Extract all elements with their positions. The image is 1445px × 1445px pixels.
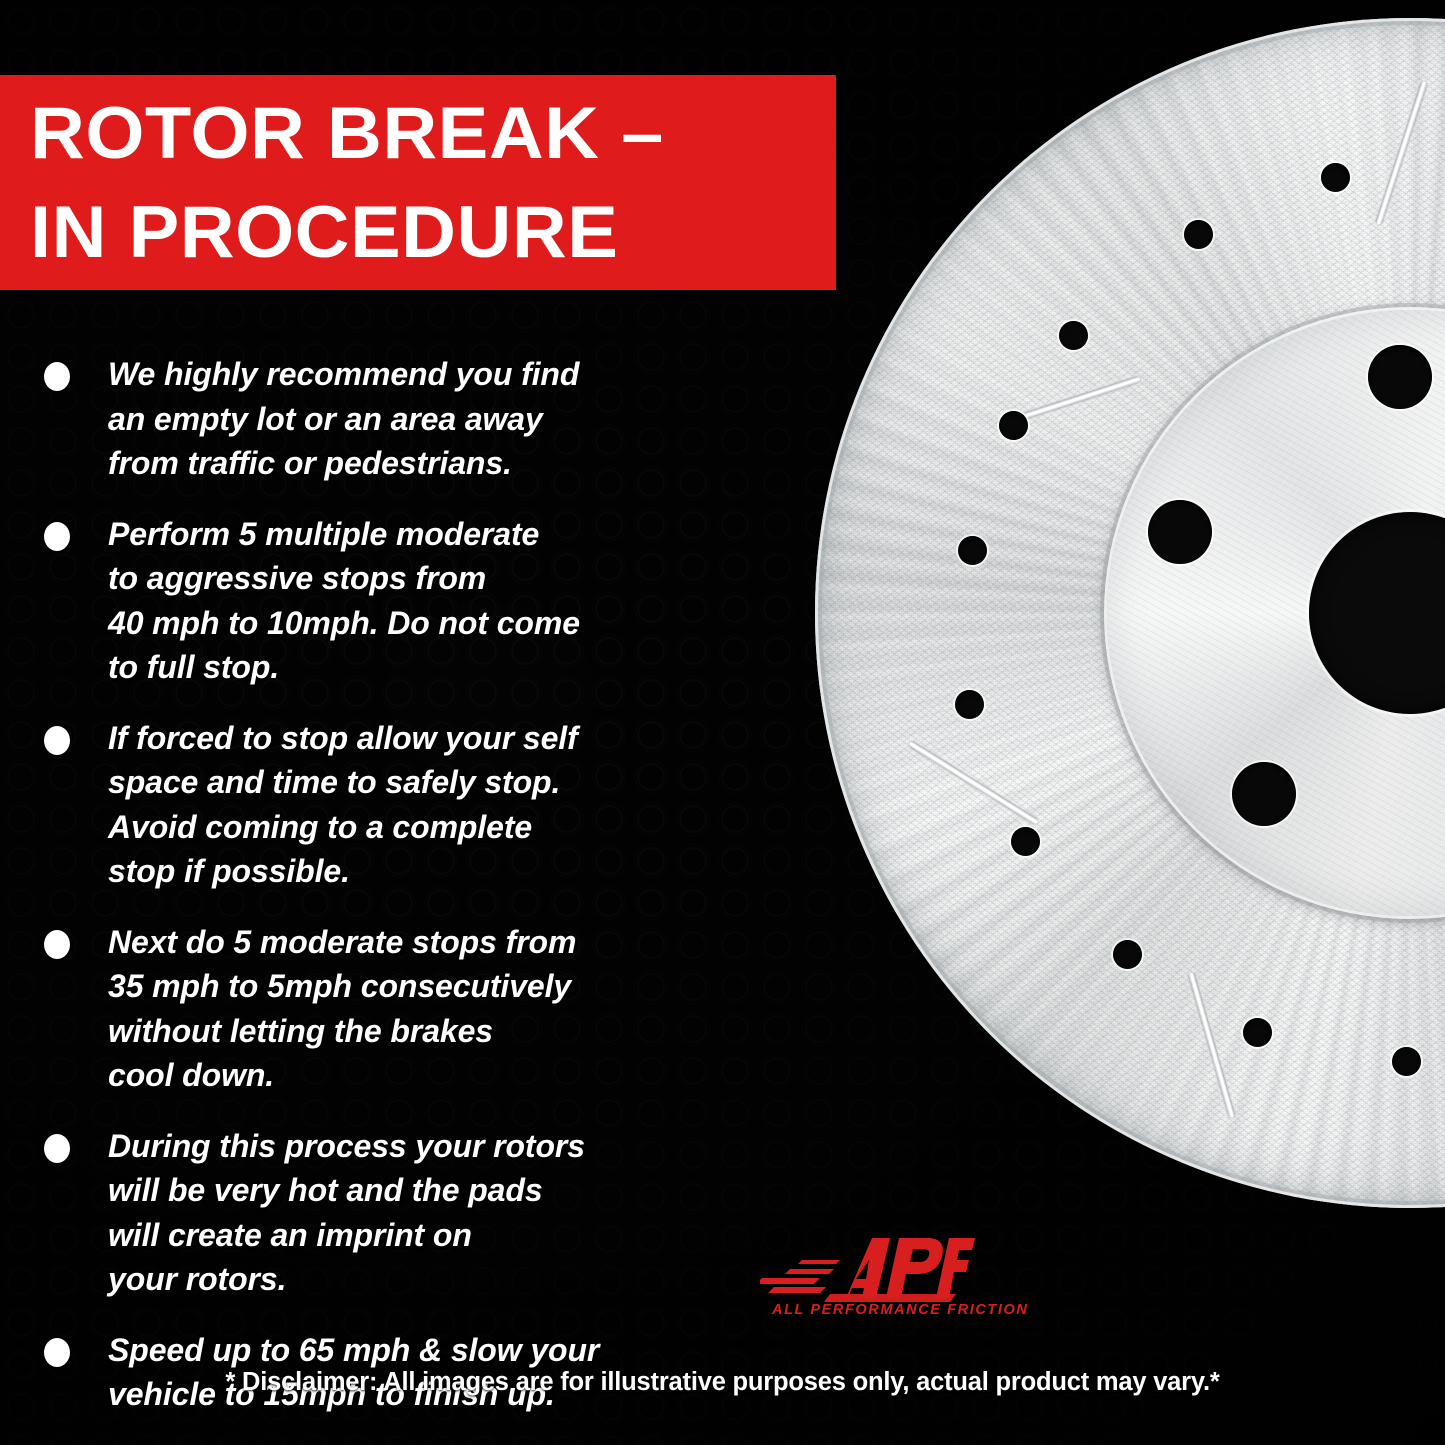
bullet-dot-icon [44, 1338, 70, 1367]
title-banner: ROTOR BREAK – IN PROCEDURE [0, 75, 836, 290]
rotor-drill-hole [1113, 940, 1142, 969]
rotor-drill-hole [1243, 1018, 1272, 1047]
rotor-drill-hole [1184, 220, 1213, 249]
rotor-lug-hole [1148, 500, 1212, 564]
page-title-line-1: ROTOR BREAK – [30, 84, 868, 183]
bullet-dot-icon [44, 1134, 70, 1163]
rotor-drill-hole [999, 411, 1028, 440]
list-item: Perform 5 multiple moderate to aggressiv… [44, 512, 764, 690]
instruction-text: Next do 5 moderate stops from 35 mph to … [108, 920, 576, 1098]
bullet-dot-icon [44, 930, 70, 959]
apf-logo-svg [760, 1232, 975, 1304]
list-item: During this process your rotors will be … [44, 1124, 764, 1302]
bullet-dot-icon [44, 726, 70, 755]
bullet-dot-icon [44, 522, 70, 551]
bullet-dot-icon [44, 362, 70, 391]
list-item: Next do 5 moderate stops from 35 mph to … [44, 920, 764, 1098]
apf-logo: ALL PERFORMANCE FRICTION [760, 1232, 975, 1337]
instruction-text: We highly recommend you find an empty lo… [108, 352, 579, 486]
disclaimer-text: * Disclaimer: All images are for illustr… [0, 1368, 1445, 1397]
page-title-line-2: IN PROCEDURE [30, 183, 868, 282]
list-item: If forced to stop allow your self space … [44, 716, 764, 894]
poster-root: ROTOR BREAK – IN PROCEDURE We highly rec… [0, 0, 1445, 1445]
rotor-drill-hole [958, 536, 987, 565]
apf-tagline: ALL PERFORMANCE FRICTION [772, 1302, 975, 1318]
instruction-text: If forced to stop allow your self space … [108, 716, 578, 894]
instruction-list: We highly recommend you find an empty lo… [44, 352, 764, 1443]
rotor-assembly [815, 18, 1445, 1208]
instruction-text: During this process your rotors will be … [108, 1124, 585, 1302]
rotor-lug-hole [1232, 762, 1296, 826]
rotor-drill-hole [1321, 163, 1350, 192]
apf-wordmark-icon [760, 1232, 975, 1304]
instruction-text: Perform 5 multiple moderate to aggressiv… [108, 512, 580, 690]
list-item: We highly recommend you find an empty lo… [44, 352, 764, 486]
